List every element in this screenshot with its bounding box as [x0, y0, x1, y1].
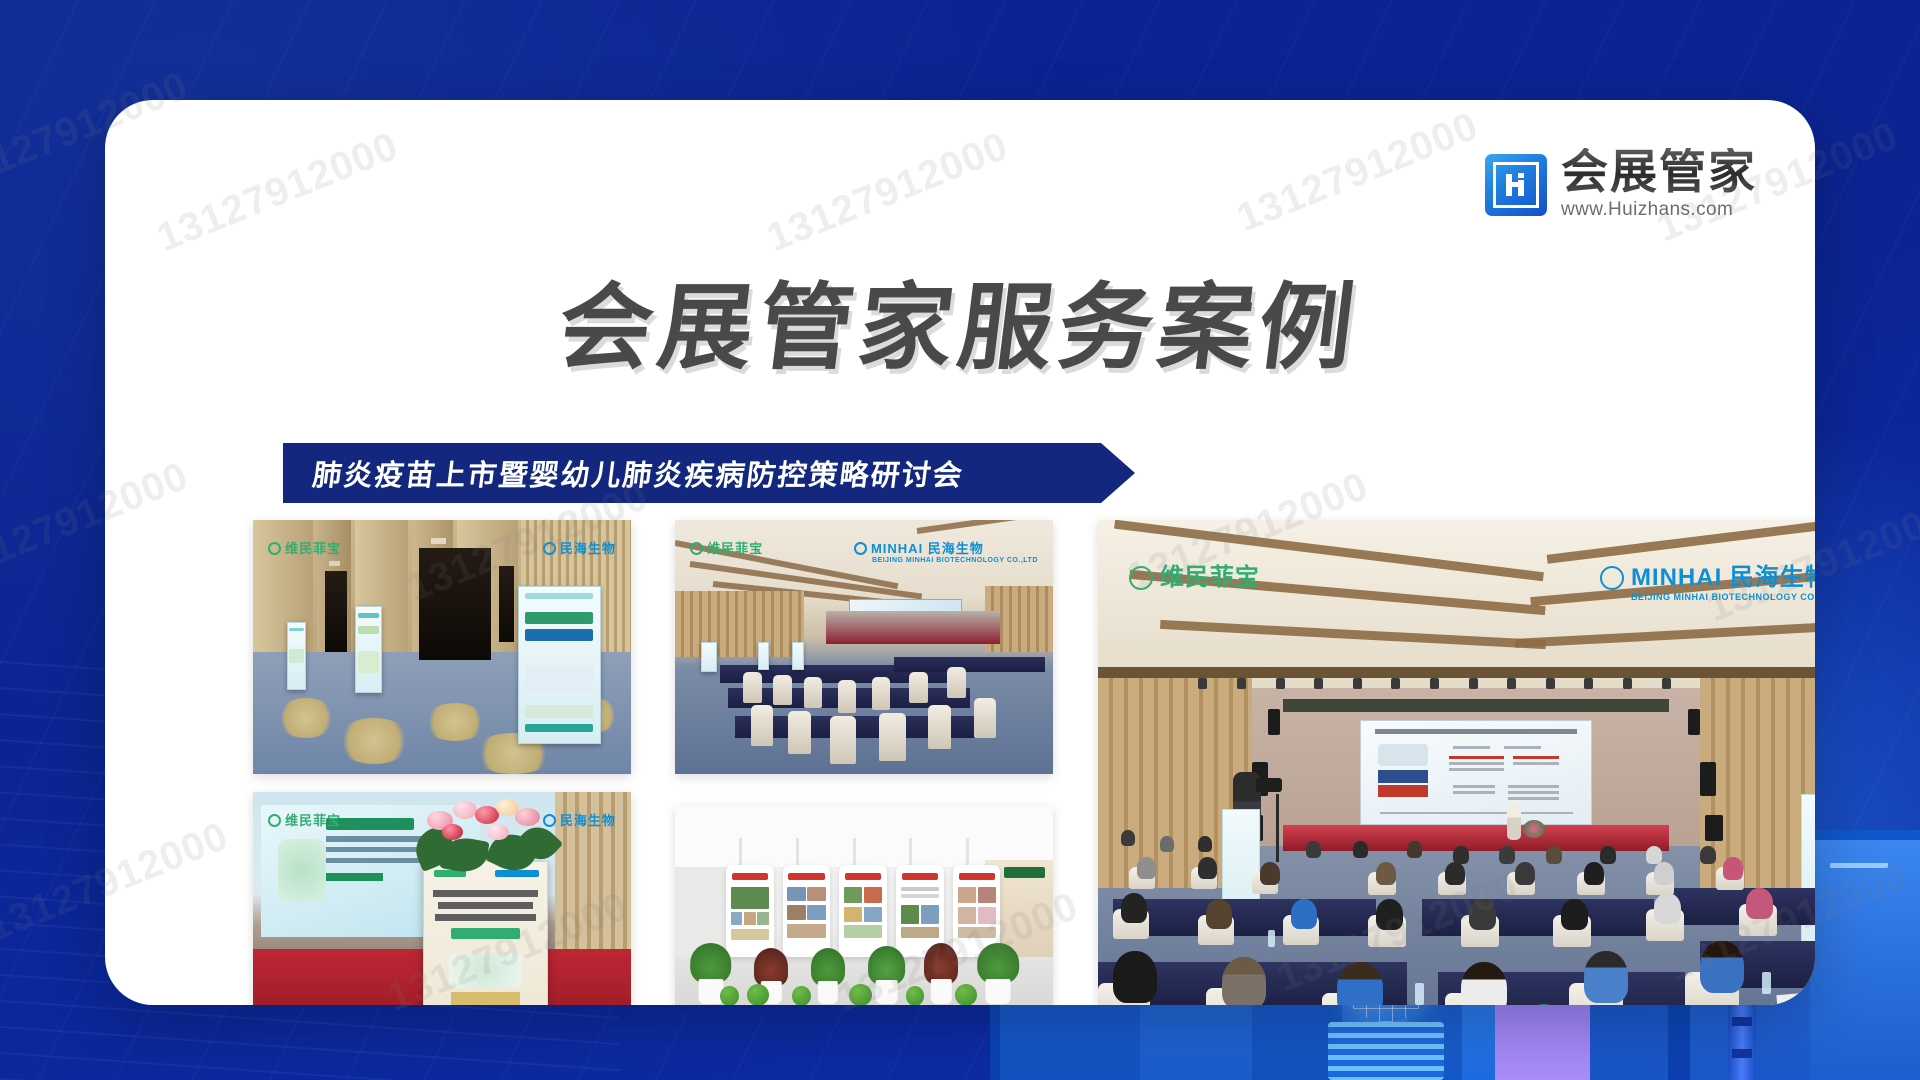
photo-gallery: 维民菲宝 民海生物 [253, 520, 1815, 1005]
photo-stage-poster[interactable]: 维民菲宝 民海生物 [253, 792, 631, 1005]
content-card: 会展管家 www.Huizhans.com 会展管家服务案例 肺炎疫苗上市暨婴幼… [105, 100, 1815, 1005]
photo-empty-hall[interactable]: 维民菲宝 MINHAI 民海生物 BEIJING MINHAI BIOTECHN… [675, 520, 1053, 774]
photo-watermark-minhai: 民海生物 [543, 810, 616, 829]
photo-watermark-minhai: MINHAI 民海生物 BEIJING MINHAI BIOTECHNOLOGY… [854, 538, 1038, 564]
speaker-on-stage [1507, 804, 1521, 840]
huizhans-h-monogram-icon [1485, 154, 1547, 216]
launch-poster [423, 861, 548, 1005]
presentation-screen [1360, 720, 1592, 825]
stage-flower-arrangement [412, 795, 563, 876]
photo-venue-entrance[interactable]: 维民菲宝 民海生物 [253, 520, 631, 774]
photo-exhibition-boards[interactable] [675, 806, 1053, 1005]
photo-watermark-weiminfeibao: 维民菲宝 [268, 538, 341, 557]
photo-watermark-weiminfeibao: 维民菲宝 [268, 810, 341, 829]
photo-watermark-weiminfeibao: 维民菲宝 [690, 538, 763, 557]
event-name-banner: 肺炎疫苗上市暨婴幼儿肺炎疾病防控策略研讨会 [283, 443, 1135, 503]
photo-watermark-minhai: 民海生物 [543, 538, 616, 557]
photo-watermark-weiminfeibao: 维民菲宝 [1129, 557, 1260, 592]
brand-url: www.Huizhans.com [1561, 199, 1757, 221]
brand-name-cn: 会展管家 [1561, 148, 1757, 195]
event-name-text: 肺炎疫苗上市暨婴幼儿肺炎疾病防控策略研讨会 [280, 452, 966, 494]
brand-logo[interactable]: 会展管家 www.Huizhans.com [1485, 148, 1757, 221]
page-title: 会展管家服务案例 [105, 252, 1815, 388]
photo-main-session[interactable]: 维民菲宝 MINHAI 民海生物 BEIJING MINHAI BIOTECHN… [1098, 520, 1815, 1005]
photo-watermark-minhai: MINHAI 民海生物 BEIJING MINHAI BIOTECHNOLOGY… [1600, 557, 1815, 602]
